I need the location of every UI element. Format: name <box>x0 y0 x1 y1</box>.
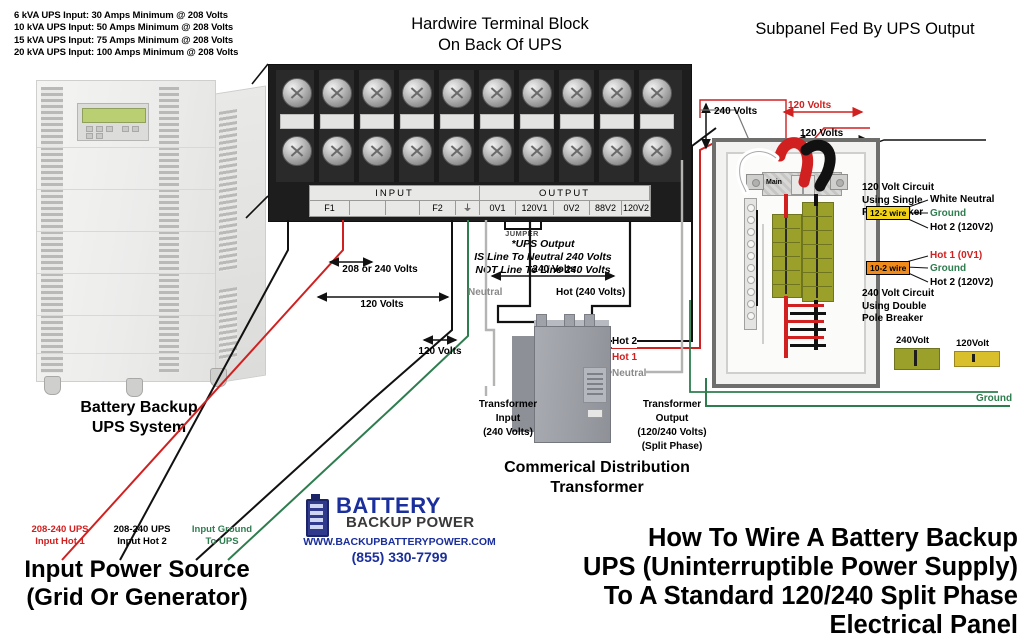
diagram-canvas: 6 kVA UPS Input: 30 Amps Minimum @ 208 V… <box>0 0 1024 626</box>
input-wire-label-ground: Input Ground To UPS <box>182 524 262 548</box>
input-source-caption: Input Power Source (Grid Or Generator) <box>4 556 270 612</box>
c120-l1: 120 Volt Circuit <box>862 182 962 195</box>
legend-120-label: 120Volt <box>956 338 989 349</box>
iw2-l2: Input Hot 2 <box>100 536 184 548</box>
title-line3: To A Standard 120/240 Split Phase Electr… <box>560 582 1018 640</box>
main-title: How To Wire A Battery Backup UPS (Uninte… <box>560 524 1018 640</box>
iw2-l1: 208-240 UPS <box>100 524 184 536</box>
circuit-240-caption: 240 Volt Circuit Using Double Pole Break… <box>862 288 962 326</box>
logo-website[interactable]: WWW.BACKUPBATTERYPOWER.COM <box>292 536 507 548</box>
label-white-neutral: White Neutral <box>930 194 994 206</box>
iw3-l1: Input Ground <box>182 524 262 536</box>
logo-word-backup-power: BACKUP POWER <box>346 514 474 531</box>
brand-logo: BATTERY BACKUP POWER WWW.BACKUPBATTERYPO… <box>292 492 507 544</box>
c240-l2: Using Double <box>862 301 962 314</box>
iw1-l2: Input Hot 1 <box>18 536 102 548</box>
label-hot2-120v2-upper: Hot 2 (120V2) <box>930 222 993 234</box>
logo-phone[interactable]: (855) 330-7799 <box>292 549 507 565</box>
title-line1: How To Wire A Battery Backup <box>560 524 1018 553</box>
legend-240-swatch <box>894 348 940 370</box>
label-hot1-0v1: Hot 1 (0V1) <box>930 250 982 262</box>
input-wire-label-hot1: 208-240 UPS Input Hot 1 <box>18 524 102 548</box>
title-line2: UPS (Uninterruptible Power Supply) <box>560 553 1018 582</box>
src-l2: (Grid Or Generator) <box>4 584 270 612</box>
iw1-l1: 208-240 UPS <box>18 524 102 536</box>
label-ground-120: Ground <box>930 208 966 220</box>
wire-chip-10-2: 10-2 wire <box>866 261 910 275</box>
input-wire-label-hot2: 208-240 UPS Input Hot 2 <box>100 524 184 548</box>
legend-120-swatch <box>954 351 1000 367</box>
src-l1: Input Power Source <box>4 556 270 584</box>
c240-l3: Pole Breaker <box>862 313 962 326</box>
label-ground-240: Ground <box>930 263 966 275</box>
iw3-l2: To UPS <box>182 536 262 548</box>
legend-240-label: 240Volt <box>896 335 929 346</box>
cable-neutral-white <box>740 152 776 192</box>
wire-chip-12-2: 12-2 wire <box>866 206 910 220</box>
label-ground-out: Ground <box>976 393 1012 405</box>
battery-icon <box>298 494 332 538</box>
c240-l1: 240 Volt Circuit <box>862 288 962 301</box>
